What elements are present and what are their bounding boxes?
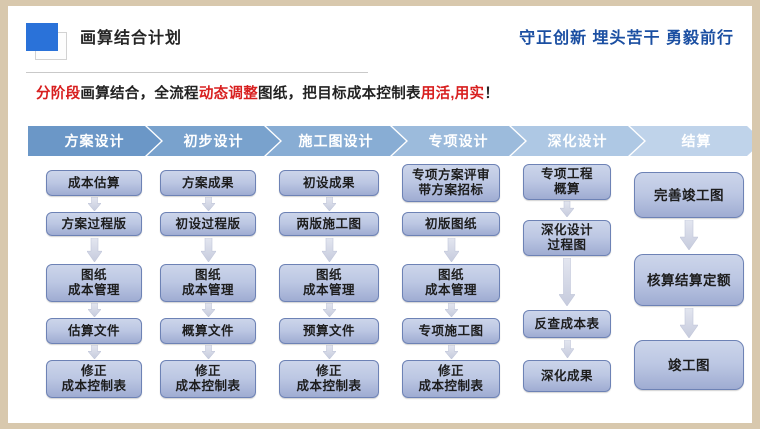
flow-arrow-down-icon (88, 303, 101, 317)
flow-node-label: 深化成果 (541, 369, 593, 384)
flow-node-label: 图纸 (195, 268, 221, 283)
flow-node-label: 成本管理 (425, 283, 477, 298)
flow-node-label: 带方案招标 (418, 183, 483, 198)
company-slogan: 守正创新 埋头苦干 勇毅前行 (519, 24, 734, 48)
flow-node-label: 修正 (81, 364, 107, 379)
flow-arrow-down-icon (680, 308, 698, 338)
flow-node-label: 成本控制表 (296, 379, 361, 394)
flow-node[interactable]: 深化设计过程图 (523, 220, 611, 256)
flow-node-label: 成本控制表 (418, 379, 483, 394)
flow-node[interactable]: 初版图纸 (402, 212, 500, 236)
flow-node[interactable]: 方案成果 (160, 170, 256, 196)
flow-arrow-down-icon (559, 258, 575, 306)
flow-node-label: 修正 (195, 364, 221, 379)
flow-node-label: 成本管理 (182, 283, 234, 298)
flow-node[interactable]: 两版施工图 (279, 212, 379, 236)
flow-node-label: 修正 (438, 364, 464, 379)
flow-node-label: 专项施工图 (418, 324, 483, 339)
flow-node[interactable]: 修正成本控制表 (160, 360, 256, 398)
slide-canvas: 画算结合计划 守正创新 埋头苦干 勇毅前行 分阶段画算结合，全流程动态调整图纸，… (8, 6, 752, 423)
flow-node[interactable]: 图纸成本管理 (46, 264, 142, 302)
flow-arrow-down-icon (323, 303, 336, 317)
flow-node-label: 过程图 (547, 238, 586, 253)
flow-arrow-down-icon (560, 201, 574, 217)
flow-node[interactable]: 图纸成本管理 (279, 264, 379, 302)
flow-node-label: 估算文件 (68, 324, 120, 339)
phase-chevron-5[interactable]: 深化设计 (511, 126, 644, 156)
flow-node[interactable]: 方案过程版 (46, 212, 142, 236)
flow-node-label: 两版施工图 (296, 217, 361, 232)
phase-chevron-2[interactable]: 初步设计 (147, 126, 280, 156)
flow-node[interactable]: 专项方案评审带方案招标 (402, 164, 500, 202)
phase-chevron-label: 初步设计 (184, 131, 244, 151)
flow-node[interactable]: 初设过程版 (160, 212, 256, 236)
flow-arrow-down-icon (445, 345, 458, 359)
flow-node[interactable]: 初设成果 (279, 170, 379, 196)
phase-chevron-label: 方案设计 (65, 131, 125, 151)
flow-arrow-down-icon (88, 197, 101, 211)
subtitle-text: 图纸，把目标成本控制表 (258, 86, 421, 102)
flow-arrow-down-icon (88, 345, 101, 359)
flow-arrow-down-icon (202, 345, 215, 359)
flow-node-label: 概算文件 (182, 324, 234, 339)
flow-node-label: 成本管理 (68, 283, 120, 298)
phase-chevron-label: 专项设计 (429, 131, 489, 151)
phase-chevron-1[interactable]: 方案设计 (28, 126, 161, 156)
flow-arrow-down-icon (202, 303, 215, 317)
phase-chevron-6[interactable]: 结算 (630, 126, 752, 156)
flow-node[interactable]: 专项工程概算 (523, 164, 611, 200)
flow-node[interactable]: 核算结算定额 (634, 254, 744, 306)
flow-arrow-down-icon (323, 345, 336, 359)
flow-node-label: 反查成本表 (534, 317, 599, 332)
flow-node-label: 成本控制表 (61, 379, 126, 394)
flow-node-label: 完善竣工图 (654, 188, 724, 203)
flow-node-label: 方案过程版 (61, 217, 126, 232)
subtitle-highlight: 用活,用实 (421, 86, 485, 102)
flow-node-label: 图纸 (316, 268, 342, 283)
flow-node-label: 预算文件 (303, 324, 355, 339)
flow-node[interactable]: 概算文件 (160, 318, 256, 344)
flow-node[interactable]: 图纸成本管理 (160, 264, 256, 302)
flow-node-label: 方案成果 (182, 176, 234, 191)
flow-node[interactable]: 估算文件 (46, 318, 142, 344)
phase-chevron-3[interactable]: 施工图设计 (266, 126, 406, 156)
flow-arrow-down-icon (444, 238, 459, 262)
flow-node[interactable]: 反查成本表 (523, 310, 611, 338)
flow-node[interactable]: 预算文件 (279, 318, 379, 344)
flow-arrow-down-icon (322, 238, 337, 262)
flow-node-label: 图纸 (81, 268, 107, 283)
logo-blue-square-icon (26, 23, 58, 51)
flow-node[interactable]: 完善竣工图 (634, 172, 744, 218)
flow-diagram: 成本估算方案过程版图纸成本管理估算文件修正成本控制表 方案成果初设过程版图纸成本… (28, 162, 734, 412)
flow-node[interactable]: 修正成本控制表 (46, 360, 142, 398)
flow-node[interactable]: 修正成本控制表 (402, 360, 500, 398)
phase-chevron-bar: 方案设计初步设计施工图设计专项设计深化设计结算 (28, 126, 734, 156)
phase-chevron-label: 深化设计 (548, 131, 608, 151)
flow-node-label: 修正 (316, 364, 342, 379)
flow-node-label: 专项方案评审 (412, 168, 490, 183)
phase-chevron-label: 结算 (682, 131, 712, 151)
flow-node-label: 初版图纸 (425, 217, 477, 232)
flow-node[interactable]: 修正成本控制表 (279, 360, 379, 398)
page-title: 画算结合计划 (80, 29, 182, 49)
flow-node[interactable]: 专项施工图 (402, 318, 500, 344)
slide-header: 画算结合计划 守正创新 埋头苦干 勇毅前行 (8, 6, 752, 64)
flow-node-label: 概算 (554, 182, 580, 197)
flow-arrow-down-icon (445, 303, 458, 317)
flow-node[interactable]: 深化成果 (523, 360, 611, 392)
flow-node[interactable]: 图纸成本管理 (402, 264, 500, 302)
phase-chevron-4[interactable]: 专项设计 (392, 126, 525, 156)
subtitle-text: 画算结合，全流程 (80, 86, 198, 102)
flow-node-label: 图纸 (438, 268, 464, 283)
flow-node-label: 核算结算定额 (647, 273, 731, 288)
flow-arrow-down-icon (201, 238, 216, 262)
flow-node-label: 初设过程版 (175, 217, 240, 232)
flow-node-label: 成本管理 (303, 283, 355, 298)
flow-node-label: 成本估算 (68, 176, 120, 191)
flow-node-label: 初设成果 (303, 176, 355, 191)
flow-arrow-down-icon (87, 238, 102, 262)
subtitle-statement: 分阶段画算结合，全流程动态调整图纸，把目标成本控制表用活,用实！ (36, 85, 499, 103)
flow-node[interactable]: 竣工图 (634, 340, 744, 390)
phase-chevron-label: 施工图设计 (299, 131, 374, 151)
flow-arrow-down-icon (323, 197, 336, 211)
flow-arrow-down-icon (680, 220, 698, 250)
flow-node-label: 竣工图 (668, 358, 710, 373)
flow-node[interactable]: 成本估算 (46, 170, 142, 196)
subtitle-highlight: 动态调整 (199, 86, 258, 102)
subtitle-highlight: 分阶段 (36, 86, 80, 102)
logo (26, 23, 70, 57)
flow-node-label: 成本控制表 (175, 379, 240, 394)
flow-arrow-down-icon (561, 340, 574, 358)
flow-node-label: 深化设计 (541, 223, 593, 238)
header-divider (26, 72, 368, 73)
subtitle-text: ！ (484, 86, 499, 102)
flow-node-label: 专项工程 (541, 167, 593, 182)
flow-arrow-down-icon (202, 197, 215, 211)
